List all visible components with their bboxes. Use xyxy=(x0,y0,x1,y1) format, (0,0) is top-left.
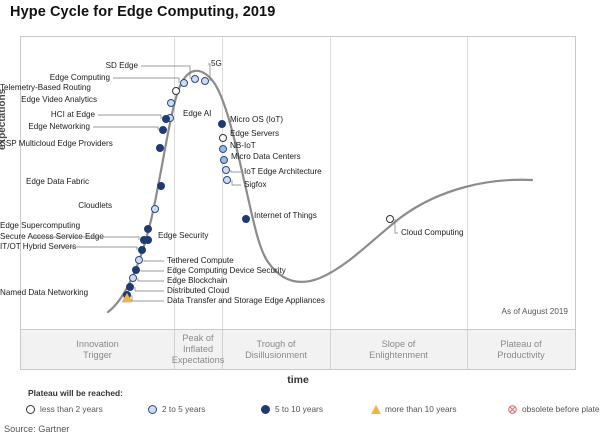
phase-line: Inflated xyxy=(183,344,213,354)
point-label: Edge Data Fabric xyxy=(0,177,89,186)
point-label: Edge AI xyxy=(183,109,211,118)
point-label: Edge Supercomputing xyxy=(0,221,65,230)
point-label: HCI at Edge xyxy=(0,110,95,119)
legend-item-label: less than 2 years xyxy=(40,404,103,414)
marker-light-circle-icon xyxy=(167,99,175,107)
point-label: 5G xyxy=(211,59,222,68)
marker-dark-circle-icon xyxy=(126,283,134,291)
phase-line: Plateau of xyxy=(500,339,541,349)
marker-dark-circle-icon xyxy=(242,215,250,223)
marker-triangle-icon xyxy=(122,293,132,302)
phase-plateau-of-productivity: Plateau ofProductivity xyxy=(467,330,575,369)
marker-mid-circle-icon xyxy=(220,156,228,164)
point-label: Cloudlets xyxy=(0,201,112,210)
gridline xyxy=(330,37,331,329)
phase-line: Innovation xyxy=(76,339,118,349)
legend-item-light-circle[interactable]: 2 to 5 years xyxy=(148,404,205,414)
point-label: SD Edge xyxy=(0,61,138,70)
marker-dark-circle-icon xyxy=(159,126,167,134)
phase-band: InnovationTrigger Peak ofInflatedExpecta… xyxy=(20,329,576,370)
marker-light-circle-icon xyxy=(222,166,230,174)
legend-item-dark-circle[interactable]: 5 to 10 years xyxy=(261,404,323,414)
point-label: Data Transfer and Storage Edge Appliance… xyxy=(167,296,325,305)
marker-light-circle-icon xyxy=(151,205,159,213)
phase-peak-of-inflated-expectations: Peak ofInflatedExpectations xyxy=(174,330,222,369)
marker-open-circle-icon xyxy=(386,215,394,223)
point-label: CSP Multicloud Edge Providers xyxy=(0,139,46,148)
marker-light-circle-icon xyxy=(201,77,209,85)
marker-dark-circle-icon xyxy=(140,236,148,244)
legend-obsolete-icon xyxy=(508,405,517,414)
legend: less than 2 years2 to 5 years5 to 10 yea… xyxy=(20,404,580,420)
phase-line: Trough of xyxy=(257,339,296,349)
phase-line: Enlightenment xyxy=(369,350,428,360)
point-label: Edge Servers xyxy=(230,129,279,138)
phase-line: Productivity xyxy=(497,350,545,360)
point-label: Internet of Things xyxy=(254,211,317,220)
as-of-date: As of August 2019 xyxy=(502,307,568,316)
marker-light-circle-icon xyxy=(135,256,143,264)
point-label: Distributed Cloud xyxy=(167,286,229,295)
point-label: Sigfox xyxy=(244,180,267,189)
point-label: IoT Edge Architecture xyxy=(244,167,322,176)
point-label: Edge Blockchain xyxy=(167,276,227,285)
marker-open-circle-icon xyxy=(219,134,227,142)
gridline xyxy=(467,37,468,329)
phase-line: Peak of xyxy=(182,333,213,343)
point-label: Edge Computing Device Security xyxy=(167,266,286,275)
legend-title: Plateau will be reached: xyxy=(28,388,123,398)
legend-item-triangle[interactable]: more than 10 years xyxy=(371,404,456,414)
phase-line: Disillusionment xyxy=(245,350,307,360)
legend-item-label: obsolete before plateau xyxy=(522,404,600,414)
phase-line: Trigger xyxy=(83,350,112,360)
phase-innovation-trigger: InnovationTrigger xyxy=(21,330,174,369)
point-label: Edge Computing xyxy=(0,73,110,82)
x-axis-label: time xyxy=(0,374,596,386)
point-label: IT/OT Hybrid Servers xyxy=(0,242,51,251)
marker-light-circle-icon xyxy=(191,75,199,83)
legend-item-label: 2 to 5 years xyxy=(162,404,205,414)
point-label: Micro OS (IoT) xyxy=(230,115,283,124)
marker-dark-circle-icon xyxy=(132,266,140,274)
phase-line: Expectations xyxy=(172,355,225,365)
legend-open-circle-icon xyxy=(26,405,35,414)
point-label: Cloud Computing xyxy=(401,228,464,237)
marker-dark-circle-icon xyxy=(157,182,165,190)
marker-dark-circle-icon xyxy=(162,115,170,123)
source-note: Source: Gartner xyxy=(4,424,69,434)
legend-item-label: more than 10 years xyxy=(385,404,456,414)
legend-triangle-icon xyxy=(371,405,380,414)
legend-light-circle-icon xyxy=(148,405,157,414)
marker-light-circle-icon xyxy=(180,79,188,87)
legend-item-label: 5 to 10 years xyxy=(275,404,323,414)
point-label: Edge Security xyxy=(158,231,208,240)
point-label: Tethered Compute xyxy=(167,256,234,265)
phase-line: Slope of xyxy=(382,339,416,349)
point-label: Telemetry-Based Routing xyxy=(0,83,86,92)
page-title: Hype Cycle for Edge Computing, 2019 xyxy=(10,4,275,20)
marker-open-circle-icon xyxy=(172,87,180,95)
marker-dark-circle-icon xyxy=(144,225,152,233)
marker-dark-circle-icon xyxy=(138,246,146,254)
legend-dark-circle-icon xyxy=(261,405,270,414)
point-label: Named Data Networking xyxy=(0,288,33,297)
marker-mid-circle-icon xyxy=(219,145,227,153)
point-label: Edge Video Analytics xyxy=(0,95,97,104)
point-label: Secure Access Service Edge xyxy=(0,232,27,241)
phase-slope-of-enlightenment: Slope ofEnlightenment xyxy=(330,330,467,369)
phase-trough-of-disillusionment: Trough ofDisillusionment xyxy=(222,330,330,369)
point-label: Edge Networking xyxy=(0,122,90,131)
marker-dark-circle-icon xyxy=(218,120,226,128)
legend-item-open-circle[interactable]: less than 2 years xyxy=(26,404,103,414)
legend-item-crossed-circle[interactable]: obsolete before plateau xyxy=(508,404,600,414)
marker-dark-circle-icon xyxy=(156,144,164,152)
marker-light-circle-icon xyxy=(223,176,231,184)
point-label: NB-IoT xyxy=(230,141,256,150)
marker-light-circle-icon xyxy=(129,274,137,282)
point-label: Micro Data Centers xyxy=(231,152,301,161)
